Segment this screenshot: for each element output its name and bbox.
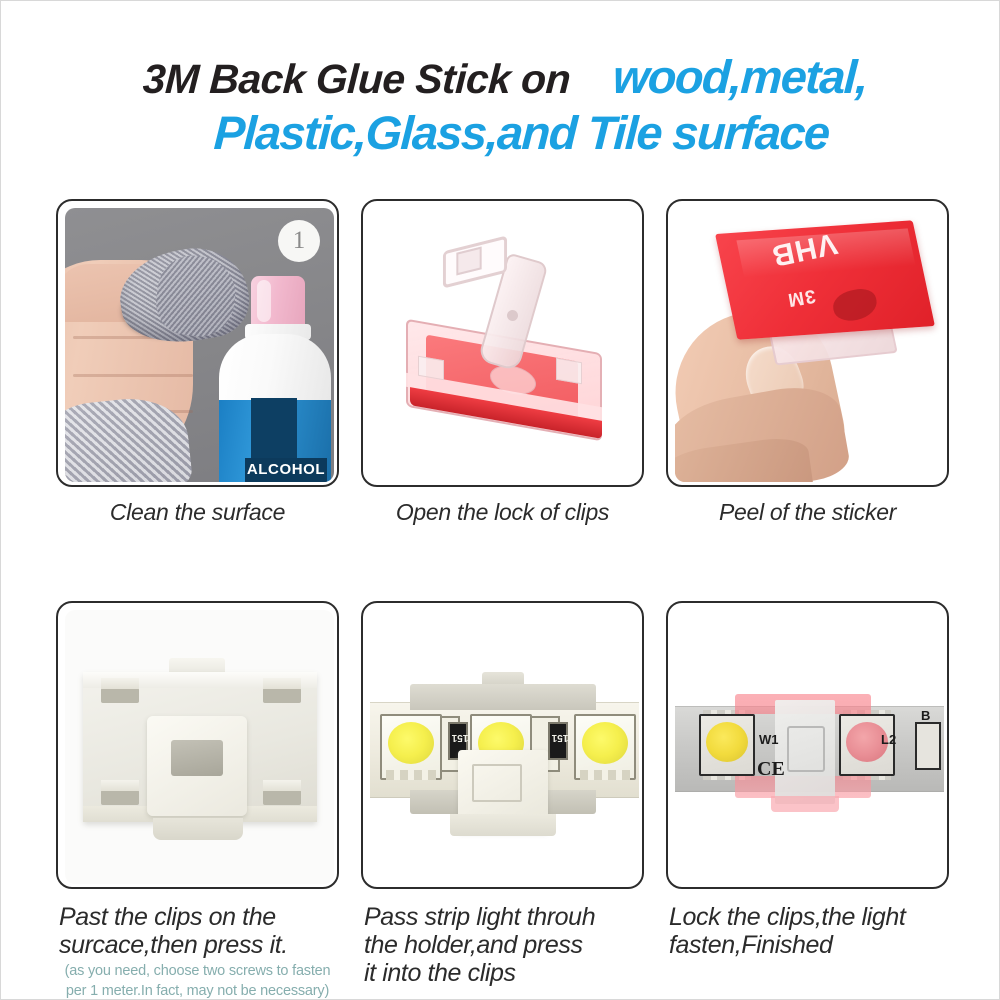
bottle-dark-band [251, 398, 297, 460]
step-subcaption-4-line2: per 1 meter.In fact, may not be necessar… [56, 981, 339, 1000]
strip-mark-b: B [921, 708, 930, 723]
step-photo-paste-clip [65, 610, 334, 884]
step-photo-clean-surface: ALCOHOL 1 [65, 208, 334, 482]
infographic-page: 3M Back Glue Stick on wood,metal, Plasti… [0, 0, 1000, 1000]
title-black-text: 3M Back Glue Stick on [142, 59, 571, 100]
step-caption-2: Open the lock of clips [361, 499, 644, 526]
step-subcaption-4-line1: (as you need, choose two screws to faste… [56, 961, 339, 981]
title-line-1: 3M Back Glue Stick on wood,metal, [1, 53, 1000, 100]
step-card-1: ALCOHOL 1 [56, 199, 339, 487]
title-line-2: Plastic,Glass,and Tile surface [1, 109, 1000, 156]
clip-tab-right [556, 358, 582, 385]
strip-mark-l2: L2 [881, 732, 896, 747]
resistor-label: 151 [444, 732, 476, 743]
led-chip-warm [699, 714, 755, 776]
step-photo-pass-strip: 151 151 [370, 610, 639, 884]
step-subcaption-4: (as you need, choose two screws to faste… [56, 961, 339, 1000]
title-blue-text-2: Plastic,Glass,and Tile surface [212, 109, 829, 156]
strip-mark-w1: W1 [759, 732, 779, 747]
step-photo-peel-sticker: VHB 3M [675, 208, 944, 482]
bottle-label: ALCOHOL [245, 458, 327, 482]
step-caption-5-line1: Pass strip light throuh [364, 903, 644, 931]
bottle-cap [251, 276, 305, 328]
clip-front-foot [450, 814, 556, 836]
title-blue-text-1: wood,metal, [612, 53, 868, 100]
steps-row-bottom: Past the clips on the surcace,then press… [56, 601, 951, 1000]
led-chip [380, 714, 442, 780]
clip-locked-window [775, 700, 835, 804]
step-caption-3: Peel of the sticker [666, 499, 949, 526]
resistor: 151 [548, 722, 568, 760]
step-caption-6-line1: Lock the clips,the light [669, 903, 949, 931]
step-cell-6: W1 L2 CE B Lock the clips,the light fast… [666, 601, 949, 1000]
steps-row-top: ALCOHOL 1 Clean the surface [56, 199, 951, 526]
step-cell-4: Past the clips on the surcace,then press… [56, 601, 339, 1000]
led-chip [574, 714, 636, 780]
step-cell-3: VHB 3M Peel of the sticker [666, 199, 949, 526]
step-card-4 [56, 601, 339, 889]
step-cell-5: 151 151 Pass strip light throuh the hold… [361, 601, 644, 1000]
clip-slot-bottom-right [263, 790, 301, 805]
steps-grid: ALCOHOL 1 Clean the surface [56, 199, 951, 1000]
page-title: 3M Back Glue Stick on wood,metal, Plasti… [1, 53, 1000, 156]
knuckle-line [73, 374, 193, 377]
clip-slot-top-right [263, 688, 301, 703]
step-cell-1: ALCOHOL 1 Clean the surface [56, 199, 339, 526]
strip-mark-ce: CE [757, 758, 785, 781]
step-caption-6-line2: fasten,Finished [669, 931, 949, 959]
step-caption-4: Past the clips on the surcace,then press… [56, 903, 339, 959]
clip-bottom-nub [153, 818, 243, 840]
holder-top-bar [410, 684, 596, 710]
step-photo-open-lock [370, 208, 639, 482]
step-caption-5-line3: it into the clips [364, 959, 644, 987]
step-number-badge: 1 [278, 220, 320, 262]
step-caption-1: Clean the surface [56, 499, 339, 526]
resistor-label: 151 [544, 732, 576, 743]
step-caption-6: Lock the clips,the light fasten,Finished [666, 903, 949, 959]
clip-center-hole [171, 740, 223, 776]
step-cell-2: Open the lock of clips [361, 199, 644, 526]
step-caption-5: Pass strip light throuh the holder,and p… [361, 903, 644, 987]
alcohol-bottle: ALCOHOL [215, 276, 331, 482]
step-photo-lock-clip: W1 L2 CE B [675, 610, 944, 884]
resistor [915, 722, 941, 770]
step-card-6: W1 L2 CE B [666, 601, 949, 889]
clip-slot-bottom-left [101, 790, 139, 805]
step-caption-4-line1: Past the clips on the [59, 903, 339, 931]
clip-locked-foot [771, 796, 839, 812]
step-card-3: VHB 3M [666, 199, 949, 487]
step-caption-4-line2: surcace,then press it. [59, 931, 339, 959]
step-card-5: 151 151 [361, 601, 644, 889]
clip-slot-top-left [101, 688, 139, 703]
step-caption-5-line2: the holder,and press [364, 931, 644, 959]
step-card-2 [361, 199, 644, 487]
